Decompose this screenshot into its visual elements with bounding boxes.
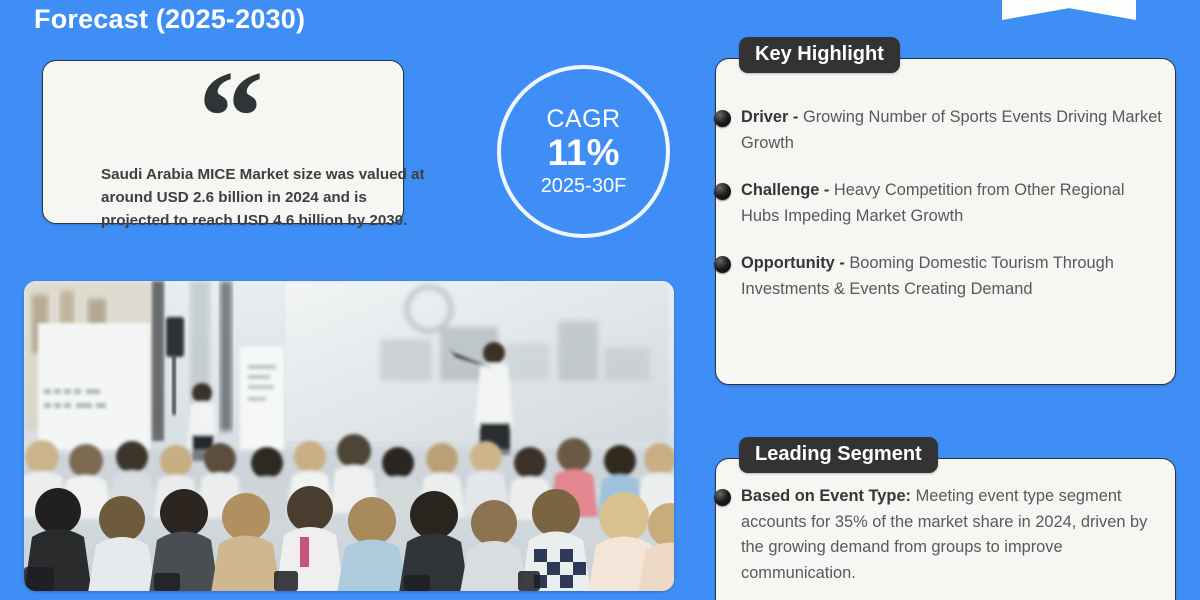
quote-mark-icon: “ [198, 69, 260, 164]
key-highlight-panel: Key Highlight Driver - Growing Number of… [715, 58, 1176, 385]
list-item-lead: Based on Event Type: [741, 487, 911, 505]
market-size-statement: Saudi Arabia MICE Market size was valued… [101, 163, 427, 232]
cagr-badge: CAGR 11% 2025-30F [497, 65, 670, 238]
leading-segment-panel: Leading Segment Based on Event Type: Mee… [715, 458, 1176, 600]
list-item: Challenge - Heavy Competition from Other… [741, 178, 1163, 229]
conference-audience-photo [24, 281, 674, 591]
list-item: Opportunity - Booming Domestic Tourism T… [741, 251, 1163, 302]
key-highlight-list: Driver - Growing Number of Sports Events… [741, 105, 1163, 303]
page-title: Saudi Arabia MICE Market Size and Foreca… [34, 0, 491, 36]
list-item: Driver - Growing Number of Sports Events… [741, 105, 1163, 156]
list-item-lead: Driver - [741, 108, 798, 126]
bullet-dot-icon [714, 489, 731, 506]
bullet-dot-icon [714, 110, 731, 127]
bullet-dot-icon [714, 183, 731, 200]
cagr-value: 11% [547, 134, 619, 173]
cagr-period: 2025-30F [541, 175, 627, 198]
leading-segment-list: Based on Event Type: Meeting event type … [741, 484, 1163, 586]
list-item-text: Growing Number of Sports Events Driving … [741, 108, 1162, 152]
market-size-quote-card: “ Saudi Arabia MICE Market size was valu… [42, 60, 404, 224]
leading-segment-title: Leading Segment [739, 437, 938, 473]
cagr-label: CAGR [546, 105, 620, 134]
key-highlight-title: Key Highlight [739, 37, 900, 73]
bullet-dot-icon [714, 256, 731, 273]
list-item-lead: Opportunity - [741, 254, 845, 272]
conference-audience-illustration [24, 281, 674, 591]
list-item: Based on Event Type: Meeting event type … [741, 484, 1163, 586]
list-item-lead: Challenge - [741, 181, 829, 199]
ribbon-badge-icon [1002, 0, 1136, 20]
